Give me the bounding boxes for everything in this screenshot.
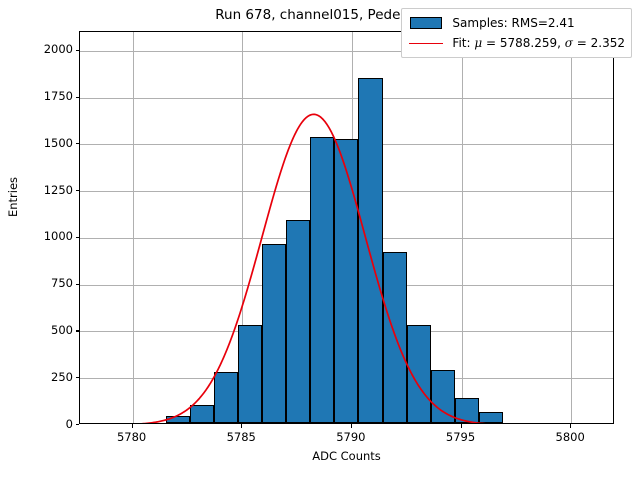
y-axis-tick-label: 1500 bbox=[44, 136, 73, 150]
x-axis-tick-label: 5795 bbox=[431, 430, 491, 444]
x-axis-tick-mark bbox=[461, 424, 462, 428]
y-axis-tick-label: 1750 bbox=[44, 89, 73, 103]
y-axis-tick-mark bbox=[76, 424, 80, 425]
y-axis-label: Entries bbox=[4, 0, 22, 393]
legend-label-samples: Samples: RMS=2.41 bbox=[452, 16, 574, 30]
x-axis-tick-label: 5785 bbox=[211, 430, 271, 444]
figure-canvas: Run 678, channel015, Pedestal Entries AD… bbox=[0, 0, 640, 480]
y-axis-tick-label: 2000 bbox=[44, 42, 73, 56]
y-axis-label-text: Entries bbox=[6, 176, 20, 216]
y-axis-tick-label: 0 bbox=[66, 417, 73, 431]
y-axis-tick-label: 750 bbox=[51, 276, 73, 290]
x-axis-tick-label: 5780 bbox=[102, 430, 162, 444]
y-axis-tick-label: 1250 bbox=[44, 183, 73, 197]
x-axis-tick-mark bbox=[570, 424, 571, 428]
x-axis-tick-label: 5800 bbox=[540, 430, 600, 444]
fit-curve-svg bbox=[80, 32, 614, 424]
legend-box: Samples: RMS=2.41 Fit: μ = 5788.259, σ =… bbox=[401, 8, 632, 58]
fit-curve bbox=[80, 32, 613, 423]
legend-swatch-fit bbox=[407, 43, 445, 44]
x-axis-tick-mark bbox=[351, 424, 352, 428]
x-axis-label: ADC Counts bbox=[79, 449, 614, 463]
legend-item-samples[interactable]: Samples: RMS=2.41 bbox=[407, 13, 625, 33]
line-swatch-icon bbox=[409, 43, 443, 44]
legend-swatch-samples bbox=[407, 17, 445, 29]
x-axis-tick-mark bbox=[241, 424, 242, 428]
y-axis-tick-label: 500 bbox=[51, 323, 73, 337]
x-axis-tick-mark bbox=[132, 424, 133, 428]
y-axis-tick-label: 1000 bbox=[44, 229, 73, 243]
legend-label-fit: Fit: μ = 5788.259, σ = 2.352 bbox=[452, 36, 625, 50]
plot-area bbox=[79, 31, 614, 424]
bar-swatch-icon bbox=[410, 17, 442, 29]
x-axis-tick-label: 5790 bbox=[321, 430, 381, 444]
y-axis-tick-label: 250 bbox=[51, 370, 73, 384]
legend-item-fit[interactable]: Fit: μ = 5788.259, σ = 2.352 bbox=[407, 33, 625, 53]
